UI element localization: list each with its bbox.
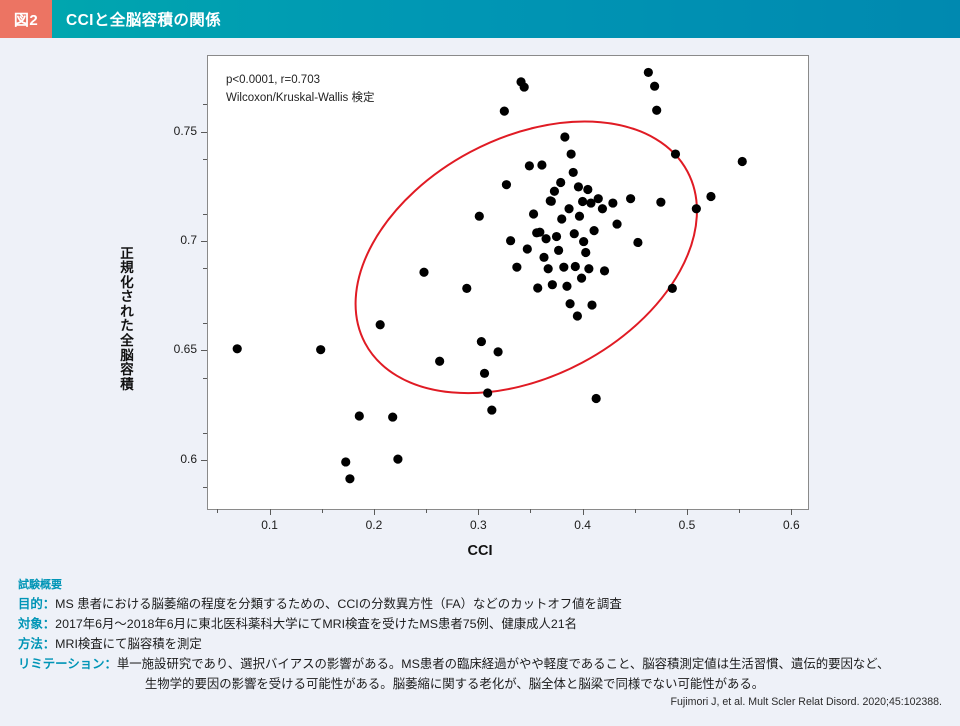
scatter-point	[600, 266, 609, 275]
scatter-point	[376, 320, 385, 329]
summary-row-text-cont: 生物学的要因の影響を受ける可能性がある。脳萎縮に関する老化が、脳全体と脳梁で同様…	[117, 674, 942, 694]
y-axis-label-char: 容	[116, 363, 138, 378]
summary-row: 目的：MS 患者における脳萎縮の程度を分類するための、CCIの分数異方性（FA）…	[18, 594, 942, 614]
scatter-point	[316, 345, 325, 354]
scatter-point	[550, 187, 559, 196]
scatter-point	[435, 357, 444, 366]
scatter-point	[706, 192, 715, 201]
x-tick-major	[583, 509, 584, 515]
scatter-point	[579, 237, 588, 246]
scatter-point	[578, 197, 587, 206]
summary-row-text: MS 患者における脳萎縮の程度を分類するための、CCIの分数異方性（FA）などの…	[55, 594, 942, 614]
summary-row: リミテーション：単一施設研究であり、選択バイアスの影響がある。MS患者の臨床経過…	[18, 654, 942, 694]
data-points	[233, 68, 747, 484]
figure-title: CCIと全脳容積の関係	[52, 0, 221, 38]
y-tick-major	[201, 132, 207, 133]
y-axis-label-char: 脳	[116, 349, 138, 364]
scatter-point	[552, 232, 561, 241]
y-axis-label-char: 全	[116, 334, 138, 349]
scatter-point	[671, 149, 680, 158]
x-tick-major	[478, 509, 479, 515]
scatter-point	[565, 299, 574, 308]
scatter-point	[569, 168, 578, 177]
scatter-point	[562, 282, 571, 291]
x-tick-label: 0.5	[662, 518, 712, 532]
y-axis-label: 正規化された全脳容積	[116, 247, 138, 393]
scatter-point	[594, 194, 603, 203]
y-tick-label: 0.6	[151, 452, 197, 466]
scatter-point	[592, 394, 601, 403]
scatter-point	[589, 226, 598, 235]
y-tick-label: 0.75	[151, 124, 197, 138]
scatter-point	[656, 198, 665, 207]
scatter-point	[612, 219, 621, 228]
scatter-point	[544, 264, 553, 273]
scatter-point	[477, 337, 486, 346]
scatter-point	[644, 68, 653, 77]
scatter-point	[608, 198, 617, 207]
scatter-point	[560, 132, 569, 141]
scatter-point	[506, 236, 515, 245]
summary-heading: 試験概要	[18, 576, 942, 592]
y-tick-minor	[203, 268, 207, 269]
scatter-point	[502, 180, 511, 189]
scatter-point	[573, 311, 582, 320]
summary-rows: 目的：MS 患者における脳萎縮の程度を分類するための、CCIの分数異方性（FA）…	[18, 594, 942, 694]
scatter-point	[570, 229, 579, 238]
y-tick-minor	[203, 104, 207, 105]
scatter-point	[537, 160, 546, 169]
scatter-point	[575, 212, 584, 221]
scatter-point	[571, 262, 580, 271]
scatter-point	[574, 182, 583, 191]
x-tick-label: 0.6	[766, 518, 816, 532]
scatter-point	[539, 253, 548, 262]
scatter-point	[554, 246, 563, 255]
y-tick-minor	[203, 323, 207, 324]
scatter-point	[577, 274, 586, 283]
x-tick-label: 0.3	[453, 518, 503, 532]
scatter-point	[541, 234, 550, 243]
x-tick-minor	[739, 509, 740, 513]
figure-area: 正規化された全脳容積 p<0.0001, r=0.703 Wilcoxon/Kr…	[0, 38, 960, 568]
scatter-point	[525, 161, 534, 170]
x-tick-major	[270, 509, 271, 515]
scatter-point	[548, 280, 557, 289]
citation-text: Fujimori J, et al. Mult Scler Relat Diso…	[671, 696, 942, 708]
x-tick-minor	[635, 509, 636, 513]
y-axis-label-char: 正	[116, 247, 138, 262]
scatter-point	[512, 263, 521, 272]
x-tick-major	[374, 509, 375, 515]
scatter-point	[584, 264, 593, 273]
scatter-point	[692, 204, 701, 213]
y-tick-major	[201, 460, 207, 461]
scatter-point	[567, 149, 576, 158]
y-axis-label-char: れ	[116, 305, 138, 320]
scatter-point	[557, 214, 566, 223]
scatter-point	[668, 284, 677, 293]
summary-row: 対象：2017年6月〜2018年6月に東北医科薬科大学にてMRI検査を受けたMS…	[18, 614, 942, 634]
y-tick-minor	[203, 159, 207, 160]
scatter-point	[738, 157, 747, 166]
y-axis-label-char: た	[116, 319, 138, 334]
x-tick-label: 0.1	[245, 518, 295, 532]
y-axis-label-char: さ	[116, 290, 138, 305]
x-tick-minor	[217, 509, 218, 513]
scatter-point	[633, 238, 642, 247]
y-tick-minor	[203, 487, 207, 488]
scatter-point	[650, 82, 659, 91]
y-axis-label-char: 積	[116, 378, 138, 393]
y-axis-label-char: 化	[116, 276, 138, 291]
scatter-point	[475, 212, 484, 221]
y-tick-minor	[203, 378, 207, 379]
scatter-point	[493, 347, 502, 356]
summary-row-label: 方法：	[18, 634, 55, 654]
scatter-point	[556, 178, 565, 187]
y-tick-label: 0.7	[151, 233, 197, 247]
scatter-point	[581, 248, 590, 257]
figure-header-bar: 図2 CCIと全脳容積の関係	[0, 0, 960, 38]
y-axis-label-char: 規	[116, 261, 138, 276]
x-tick-minor	[322, 509, 323, 513]
y-tick-major	[201, 350, 207, 351]
x-tick-label: 0.2	[349, 518, 399, 532]
summary-row-text: 2017年6月〜2018年6月に東北医科薬科大学にてMRI検査を受けたMS患者7…	[55, 614, 942, 634]
x-axis-label: CCI	[0, 543, 960, 559]
scatter-plot-panel: p<0.0001, r=0.703 Wilcoxon/Kruskal-Walli…	[207, 55, 809, 510]
scatter-point	[388, 412, 397, 421]
scatter-point	[529, 209, 538, 218]
scatter-point	[480, 369, 489, 378]
y-tick-major	[201, 241, 207, 242]
summary-row-label: 対象：	[18, 614, 55, 634]
scatter-point	[533, 283, 542, 292]
figure-number-badge: 図2	[0, 0, 52, 38]
y-tick-minor	[203, 433, 207, 434]
summary-row-label: 目的：	[18, 594, 55, 614]
summary-row-text: 単一施設研究であり、選択バイアスの影響がある。MS患者の臨床経過がやや軽度である…	[117, 654, 942, 694]
scatter-point	[587, 300, 596, 309]
scatter-point	[652, 106, 661, 115]
summary-row-text: MRI検査にて脳容積を測定	[55, 634, 942, 654]
density-ellipse	[309, 66, 743, 448]
x-tick-major	[791, 509, 792, 515]
scatter-point	[355, 411, 364, 420]
scatter-point	[393, 455, 402, 464]
scatter-point	[520, 82, 529, 91]
scatter-point	[483, 388, 492, 397]
y-tick-label: 0.65	[151, 342, 197, 356]
x-tick-label: 0.4	[558, 518, 608, 532]
scatter-point	[559, 263, 568, 272]
scatter-point	[564, 204, 573, 213]
scatter-point	[233, 344, 242, 353]
study-summary-block: 試験概要 目的：MS 患者における脳萎縮の程度を分類するための、CCIの分数異方…	[0, 576, 960, 726]
scatter-point	[462, 284, 471, 293]
y-tick-minor	[203, 214, 207, 215]
summary-row: 方法：MRI検査にて脳容積を測定	[18, 634, 942, 654]
x-tick-minor	[426, 509, 427, 513]
x-tick-minor	[530, 509, 531, 513]
scatter-point	[626, 194, 635, 203]
scatter-point	[598, 204, 607, 213]
scatter-point	[419, 268, 428, 277]
scatter-point	[547, 197, 556, 206]
scatter-point	[583, 185, 592, 194]
scatter-point	[487, 405, 496, 414]
scatter-point	[341, 457, 350, 466]
summary-row-label: リミテーション：	[18, 654, 117, 674]
scatter-point	[500, 107, 509, 116]
scatter-point	[523, 244, 532, 253]
scatter-point	[345, 474, 354, 483]
x-tick-major	[687, 509, 688, 515]
plot-canvas	[208, 56, 808, 509]
confidence-ellipse	[309, 66, 743, 448]
